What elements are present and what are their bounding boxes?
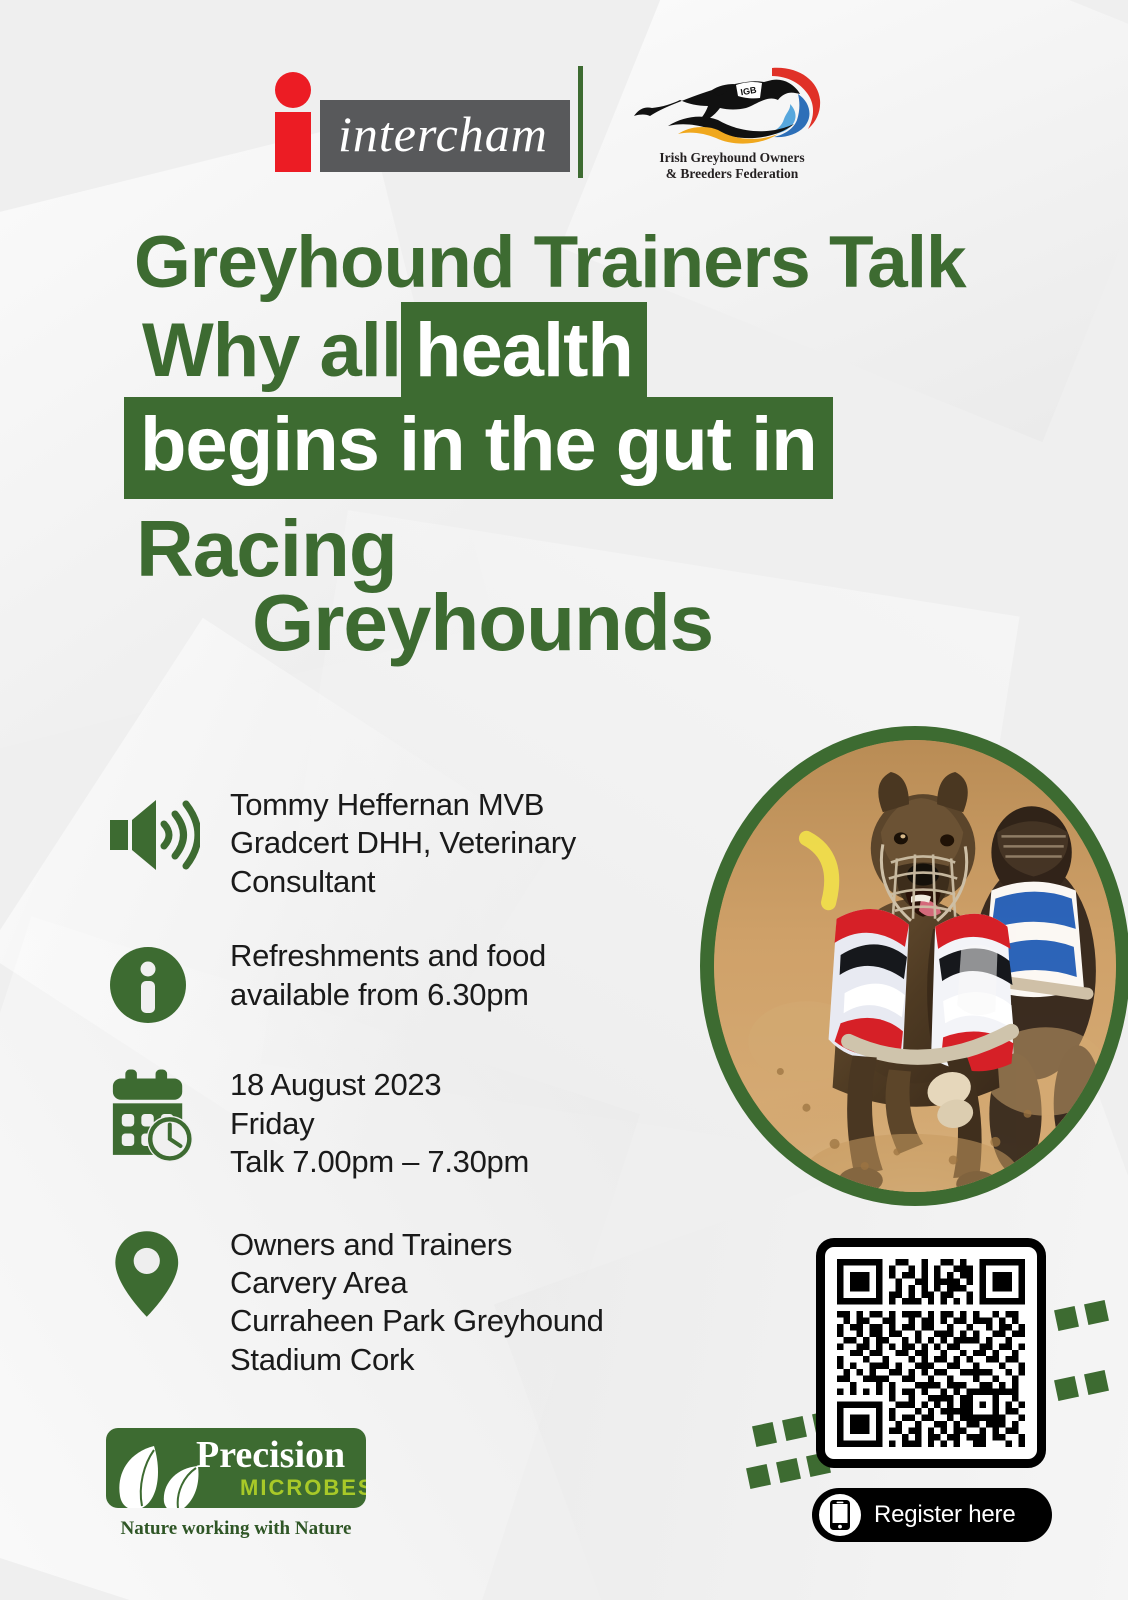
headline-band-gut: begins in the gut in <box>124 397 833 499</box>
location-line-4: Stadium Cork <box>230 1341 704 1379</box>
greyhound-photo-illustration <box>714 740 1116 1192</box>
register-here-button[interactable]: Register here <box>812 1488 1052 1542</box>
detail-row-speaker-text: Tommy Heffernan MVB Gradcert DHH, Veteri… <box>230 786 704 901</box>
qr-code-frame <box>816 1238 1046 1468</box>
intercham-i-icon <box>272 72 314 172</box>
register-here-label: Register here <box>874 1501 1015 1529</box>
detail-row-location-text: Owners and Trainers Carvery Area Currahe… <box>230 1226 704 1380</box>
detail-row-speaker: Tommy Heffernan MVB Gradcert DHH, Veteri… <box>104 786 704 901</box>
detail-row-refreshments-text: Refreshments and food available from 6.3… <box>230 937 704 1014</box>
refreshments-line-2: available from 6.30pm <box>230 976 704 1014</box>
intercham-logo: intercham <box>272 64 570 172</box>
headline-highlight-health: health <box>401 302 647 405</box>
refreshments-line-1: Refreshments and food <box>230 937 704 975</box>
headline-line-4: Racing <box>0 509 1128 589</box>
speaker-line-2: Gradcert DHH, Veterinary <box>230 824 704 862</box>
detail-row-location: Owners and Trainers Carvery Area Currahe… <box>104 1226 704 1380</box>
headline-line-1: Greyhound Trainers Talk <box>0 226 1128 299</box>
detail-row-datetime: 18 August 2023 Friday Talk 7.00pm – 7.30… <box>104 1066 704 1181</box>
speaker-line-1: Tommy Heffernan MVB <box>230 786 704 824</box>
calendar-clock-icon <box>104 1066 200 1162</box>
location-line-2: Carvery Area <box>230 1264 704 1302</box>
map-pin-icon <box>104 1226 200 1322</box>
datetime-date: 18 August 2023 <box>230 1066 704 1104</box>
location-line-3: Curraheen Park Greyhound <box>230 1302 704 1340</box>
igobf-name-line2: & Breeders Federation <box>622 166 842 182</box>
datetime-day: Friday <box>230 1105 704 1143</box>
smartphone-icon <box>829 1499 851 1531</box>
intercham-wordmark: intercham <box>338 109 548 159</box>
speaker-line-3: Consultant <box>230 863 704 901</box>
register-icon-circle <box>819 1494 861 1536</box>
detail-row-datetime-text: 18 August 2023 Friday Talk 7.00pm – 7.30… <box>230 1066 704 1181</box>
igobf-logo: IGB Irish Greyhound Owners & Breeders Fe… <box>622 60 842 182</box>
precision-microbes-tagline: Nature working with Nature <box>106 1518 366 1540</box>
precision-microbes-word-bottom: MICROBES <box>240 1477 366 1499</box>
precision-microbes-word-top: Precision <box>196 1436 366 1474</box>
igobf-name-line1: Irish Greyhound Owners <box>622 150 842 166</box>
dashed-accent-right <box>1056 1300 1128 1410</box>
logo-divider <box>578 66 583 178</box>
location-line-1: Owners and Trainers <box>230 1226 704 1264</box>
speaker-icon <box>104 786 200 882</box>
page-title: Greyhound Trainers Talk Why allhealth be… <box>0 226 1128 663</box>
leaves-icon <box>112 1438 204 1508</box>
poster-canvas: intercham IGB <box>0 0 1128 1600</box>
precision-microbes-logo: Precision MICROBES Nature working with N… <box>106 1428 366 1540</box>
detail-row-refreshments: Refreshments and food available from 6.3… <box>104 937 704 1014</box>
intercham-wordmark-box: intercham <box>320 100 570 172</box>
leaping-greyhound-icon: IGB <box>622 60 842 146</box>
qr-code-block[interactable] <box>816 1238 1046 1468</box>
event-details: Tommy Heffernan MVB Gradcert DHH, Veteri… <box>104 786 704 1409</box>
info-icon <box>104 937 200 1033</box>
greyhound-photo <box>700 726 1128 1206</box>
igobf-name: Irish Greyhound Owners & Breeders Federa… <box>622 150 842 182</box>
headline-line-3: begins in the gut in <box>0 397 1128 499</box>
datetime-talk-time: Talk 7.00pm – 7.30pm <box>230 1143 704 1181</box>
headline-line-2: Why allhealth <box>0 313 1128 389</box>
header-logos: intercham IGB <box>0 56 1128 186</box>
headline-line-5: Greyhounds <box>0 583 1128 663</box>
headline-line-2-plain: Why all <box>142 308 401 393</box>
qr-code[interactable] <box>837 1259 1025 1447</box>
